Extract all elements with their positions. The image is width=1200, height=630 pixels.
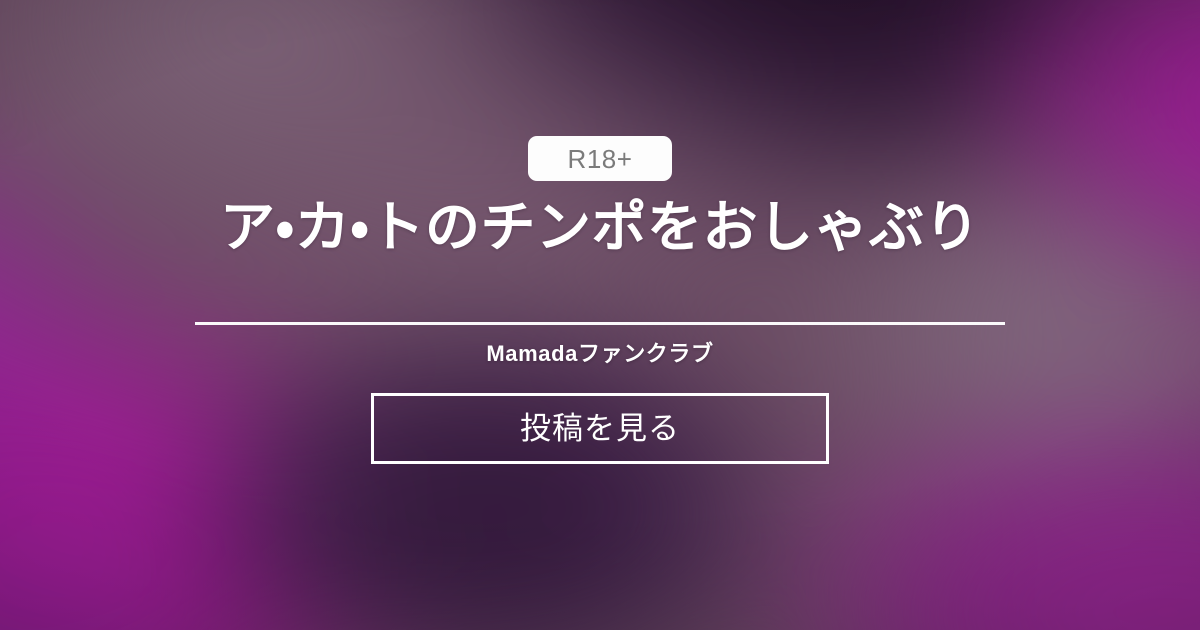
view-posts-button[interactable]: 投稿を見る (371, 393, 829, 464)
banner-content: R18+ ア・カ・トのチンポをおしゃぶり Mamadaファンクラブ 投稿を見る (0, 0, 1200, 630)
rating-badge: R18+ (528, 136, 672, 181)
fanclub-promo-banner: R18+ ア・カ・トのチンポをおしゃぶり Mamadaファンクラブ 投稿を見る (0, 0, 1200, 630)
page-title: ア・カ・トのチンポをおしゃぶり (220, 198, 980, 257)
divider (195, 322, 1005, 325)
fanclub-name: Mamadaファンクラブ (486, 343, 713, 365)
